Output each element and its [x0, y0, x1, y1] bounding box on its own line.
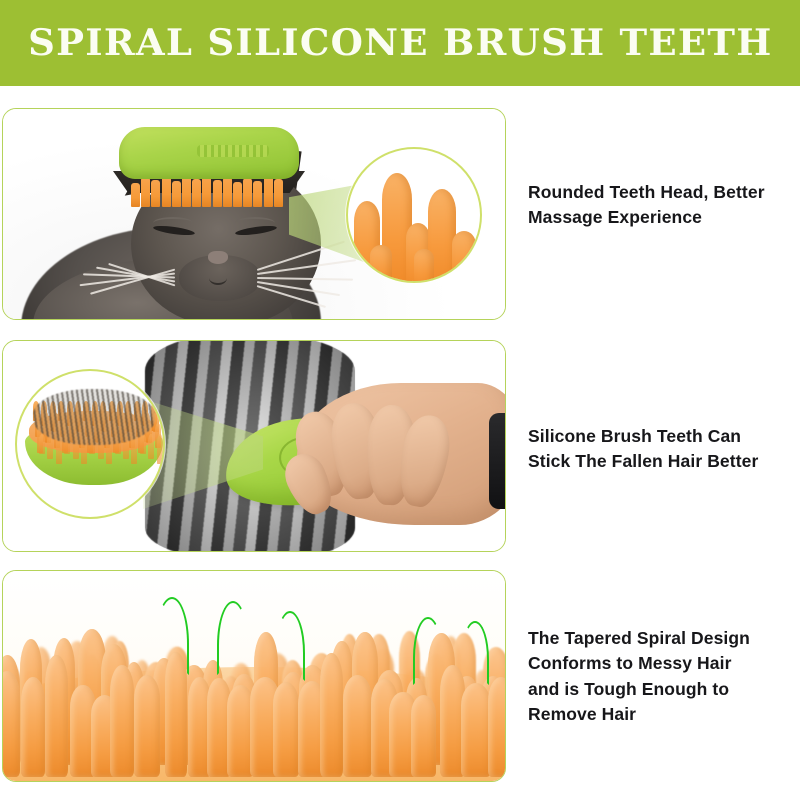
caption-line: Rounded Teeth Head, Better: [528, 180, 796, 205]
brush-tooth: [172, 181, 181, 207]
magnified-tooth: [148, 434, 154, 459]
caption-rounded-teeth-head: Rounded Teeth Head, Better Massage Exper…: [528, 180, 796, 231]
silicone-spike: [273, 682, 299, 777]
feature-panel-rounded-teeth-head: [2, 108, 506, 320]
feature-panel-stick-fallen-hair: [2, 340, 506, 552]
silicone-spike: [488, 677, 505, 777]
magnifier-bubble-teeth-closeup: [346, 147, 482, 283]
silicone-spike: [3, 671, 20, 777]
infographic-page: SPIRAL SILICONE BRUSH TEETH: [0, 0, 800, 800]
silicone-spike: [21, 677, 45, 777]
product-photo-hand-grooming-cat: [3, 341, 505, 551]
brush-tooth: [131, 183, 140, 207]
feature-panel-tapered-spiral-design: [2, 570, 506, 782]
brush-tooth: [162, 175, 171, 207]
caption-line: Conforms to Messy Hair: [528, 651, 796, 676]
brush-tooth: [264, 176, 273, 207]
caption-line: The Tapered Spiral Design: [528, 626, 796, 651]
cat-nose: [208, 251, 228, 264]
brush-tooth: [141, 177, 150, 207]
silicone-spike: [343, 675, 372, 777]
magnifier-bubble-hair-closeup: [15, 369, 165, 519]
magnified-tooth: [140, 434, 146, 454]
magnified-tooth: [157, 434, 163, 464]
brush-tooth: [213, 180, 222, 207]
dark-sleeve: [489, 413, 505, 509]
silicone-spike: [411, 695, 437, 778]
caption-stick-fallen-hair: Silicone Brush Teeth Can Stick The Falle…: [528, 424, 796, 475]
brush-grip-texture: [197, 145, 269, 157]
silicone-spike: [320, 653, 343, 777]
silicone-spike: [134, 675, 160, 777]
caption-line: Massage Experience: [528, 205, 796, 230]
brush-tooth: [274, 179, 283, 207]
page-title: SPIRAL SILICONE BRUSH TEETH: [28, 22, 772, 64]
caption-tapered-spiral-design: The Tapered Spiral Design Conforms to Me…: [528, 626, 796, 728]
magnified-tooth: [414, 249, 434, 283]
caption-line: Stick The Fallen Hair Better: [528, 449, 796, 474]
silicone-brush-on-head: [113, 127, 303, 209]
brush-tooth: [151, 180, 160, 207]
caption-line: Silicone Brush Teeth Can: [528, 424, 796, 449]
magnified-tooth: [452, 231, 476, 283]
brush-tooth: [243, 178, 252, 207]
caption-line: Remove Hair: [528, 702, 796, 727]
magnified-tooth: [370, 245, 392, 283]
collected-fallen-hair: [33, 389, 155, 445]
brush-tooth: [223, 177, 232, 207]
header-banner: SPIRAL SILICONE BRUSH TEETH: [0, 0, 800, 86]
magnified-tooth: [39, 434, 45, 454]
product-photo-teeth-macro: [3, 571, 505, 781]
cat-mouth: [209, 271, 227, 285]
silicone-spike: [45, 655, 68, 777]
brush-tooth: [253, 181, 262, 207]
silicone-spike: [461, 683, 491, 777]
silicone-spike: [110, 665, 134, 777]
caption-line: and is Tough Enough to: [528, 677, 796, 702]
product-photo-cat-with-brush: [3, 109, 505, 319]
brush-green-shell: [119, 127, 299, 179]
brush-tooth: [192, 179, 201, 207]
brush-tooth: [233, 182, 242, 207]
brush-tooth: [182, 176, 191, 207]
